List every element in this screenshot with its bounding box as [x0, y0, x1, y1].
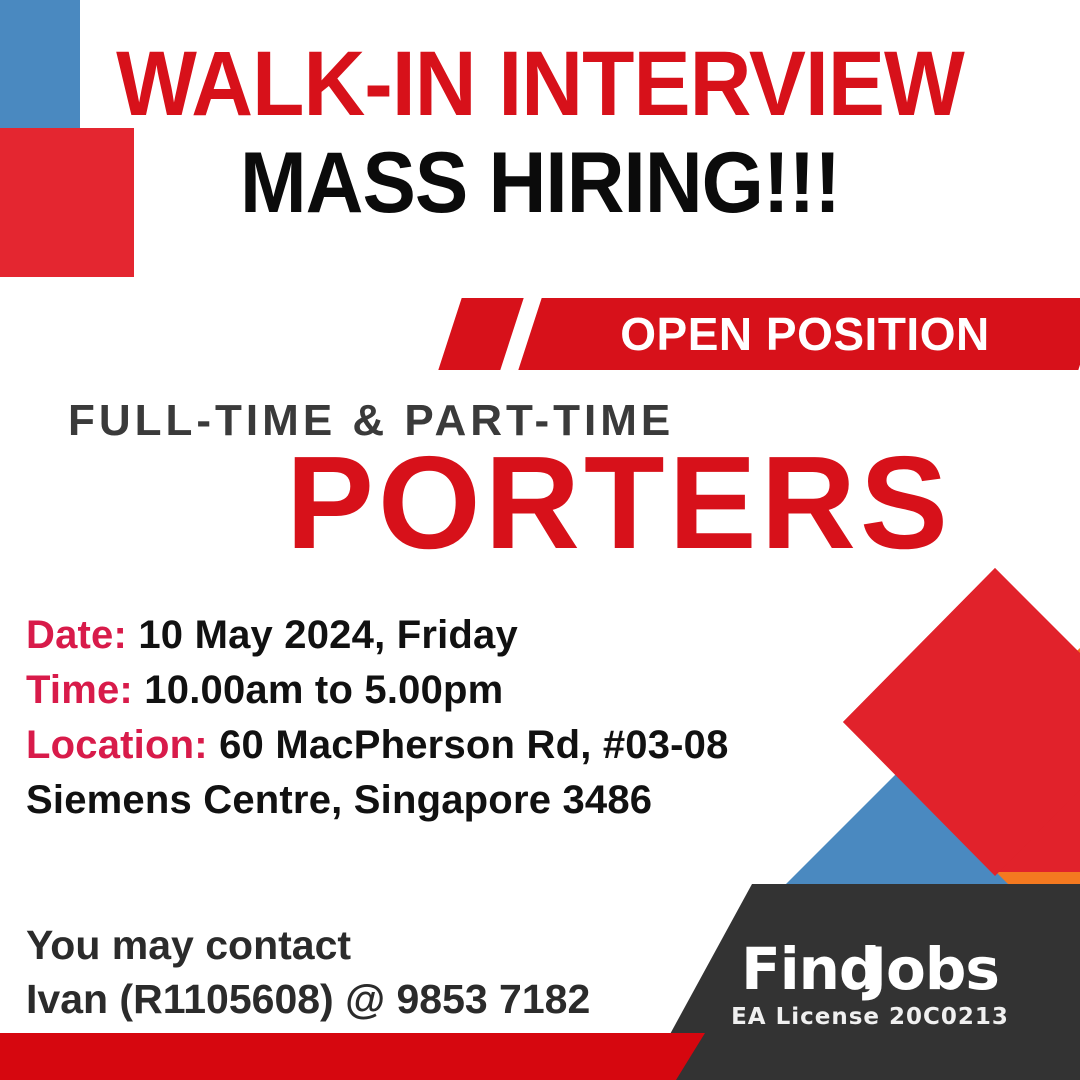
brand-logo-find: Find — [741, 935, 879, 1003]
orange-triangle-shape — [822, 648, 1080, 886]
headline-group: WALK-IN INTERVIEW MASS HIRING!!! — [0, 38, 1080, 226]
detail-row-address-line2: Siemens Centre, Singapore 3486 — [26, 773, 846, 828]
detail-row-time: Time: 10.00am to 5.00pm — [26, 663, 846, 718]
banner-label-text: OPEN POSITION — [530, 298, 1080, 370]
contact-intro-text: You may contact — [26, 918, 686, 972]
contact-person-text: Ivan (R1105608) @ 9853 7182 — [26, 972, 686, 1026]
ea-license-text: EA License 20C0213 — [700, 1004, 1040, 1030]
event-details-group: Date: 10 May 2024, Friday Time: 10.00am … — [26, 608, 846, 828]
detail-label-location: Location: — [26, 723, 208, 767]
brand-logo-wordmark: FindJobs — [700, 940, 1040, 998]
detail-value-location: 60 MacPherson Rd, #03-08 — [219, 723, 728, 767]
brand-logo-group: FindJobs EA License 20C0213 — [700, 940, 1040, 1030]
detail-label-date: Date: — [26, 613, 127, 657]
detail-label-time: Time: — [26, 668, 133, 712]
job-title-text: PORTERS — [0, 437, 952, 569]
detail-value-time: 10.00am to 5.00pm — [144, 668, 503, 712]
contact-group: You may contact Ivan (R1105608) @ 9853 7… — [26, 918, 686, 1026]
banner-accent-stripe — [438, 298, 523, 370]
headline-walk-in-interview: WALK-IN INTERVIEW — [38, 38, 1042, 130]
detail-row-date: Date: 10 May 2024, Friday — [26, 608, 846, 663]
headline-mass-hiring: MASS HIRING!!! — [38, 140, 1042, 226]
red-diamond-core — [843, 568, 1080, 876]
poster-canvas: WALK-IN INTERVIEW MASS HIRING!!! OPEN PO… — [0, 0, 1080, 1080]
footer-red-bar — [0, 1033, 705, 1080]
open-position-banner: OPEN POSITION — [0, 298, 1080, 374]
detail-value-date: 10 May 2024, Friday — [138, 613, 518, 657]
red-diamond-shape — [843, 568, 1080, 872]
brand-logo-jobs: Jobs — [865, 935, 998, 1003]
detail-row-location: Location: 60 MacPherson Rd, #03-08 — [26, 718, 846, 773]
